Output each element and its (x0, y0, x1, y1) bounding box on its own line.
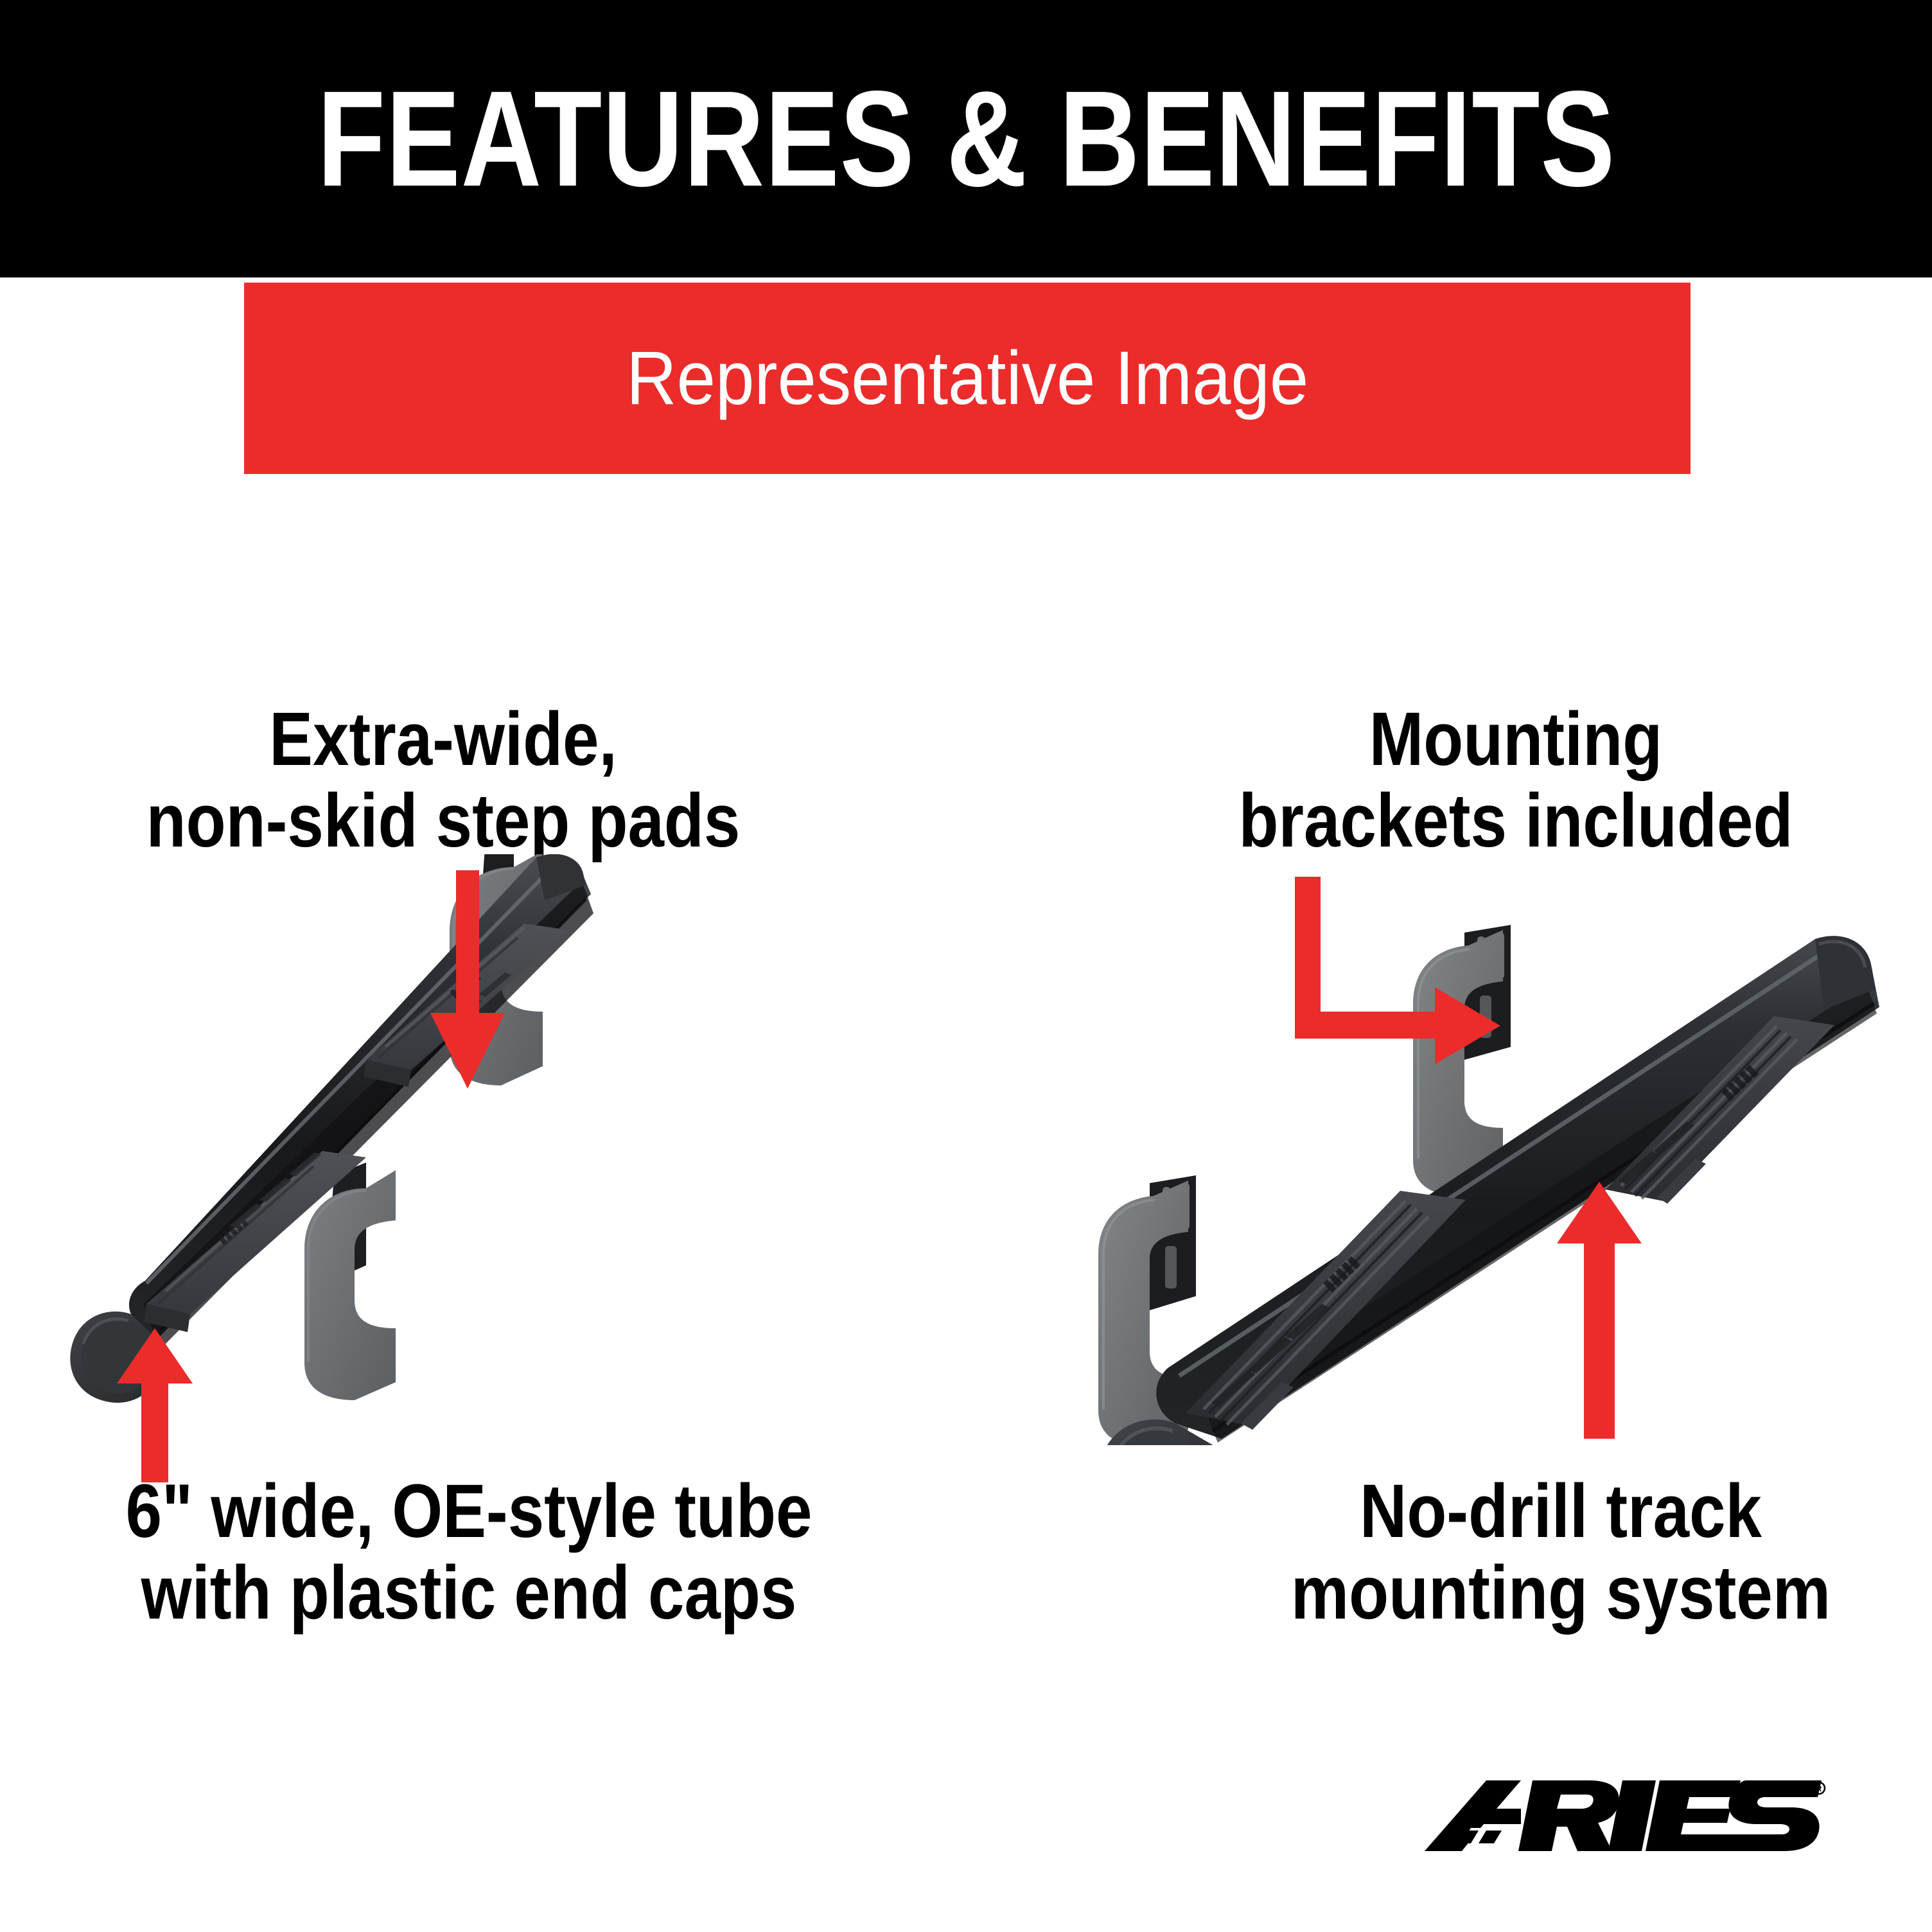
callout-no-drill-track: No-drill track mounting system (1246, 1471, 1875, 1635)
callout-tube-end-caps-line2: with plastic end caps (76, 1552, 861, 1634)
arrow-down-icon (411, 870, 524, 1089)
arrow-elbow-down-right-icon (1295, 877, 1500, 1069)
callout-no-drill-track-line1: No-drill track (1246, 1471, 1875, 1552)
banner-label: Representative Image (626, 340, 1308, 416)
aries-logo: R (1425, 1780, 1829, 1859)
infographic-page: FEATURES & BENEFITS Representative Image… (0, 0, 1932, 1932)
callout-no-drill-track-line2: mounting system (1246, 1552, 1875, 1634)
arrow-up-icon (117, 1328, 193, 1482)
callout-mounting-brackets-line2: brackets included (1184, 780, 1847, 862)
product-image-left (64, 854, 1105, 1419)
callout-step-pads-line2: non-skid step pads (95, 780, 791, 862)
arrow-up-icon (1557, 1182, 1642, 1439)
svg-text:R: R (1816, 1784, 1822, 1793)
callout-step-pads: Extra-wide, non-skid step pads (95, 699, 791, 863)
callout-mounting-brackets-line1: Mounting (1184, 699, 1847, 780)
callout-mounting-brackets: Mounting brackets included (1184, 699, 1847, 863)
header-bar: FEATURES & BENEFITS (0, 0, 1932, 277)
step-pad-lower (1186, 1191, 1466, 1430)
callout-tube-end-caps: 6" wide, OE-style tube with plastic end … (76, 1471, 861, 1635)
callout-step-pads-line1: Extra-wide, (95, 699, 791, 780)
callout-tube-end-caps-line1: 6" wide, OE-style tube (76, 1471, 861, 1552)
representative-image-banner: Representative Image (244, 283, 1690, 474)
page-title: FEATURES & BENEFITS (317, 71, 1615, 207)
